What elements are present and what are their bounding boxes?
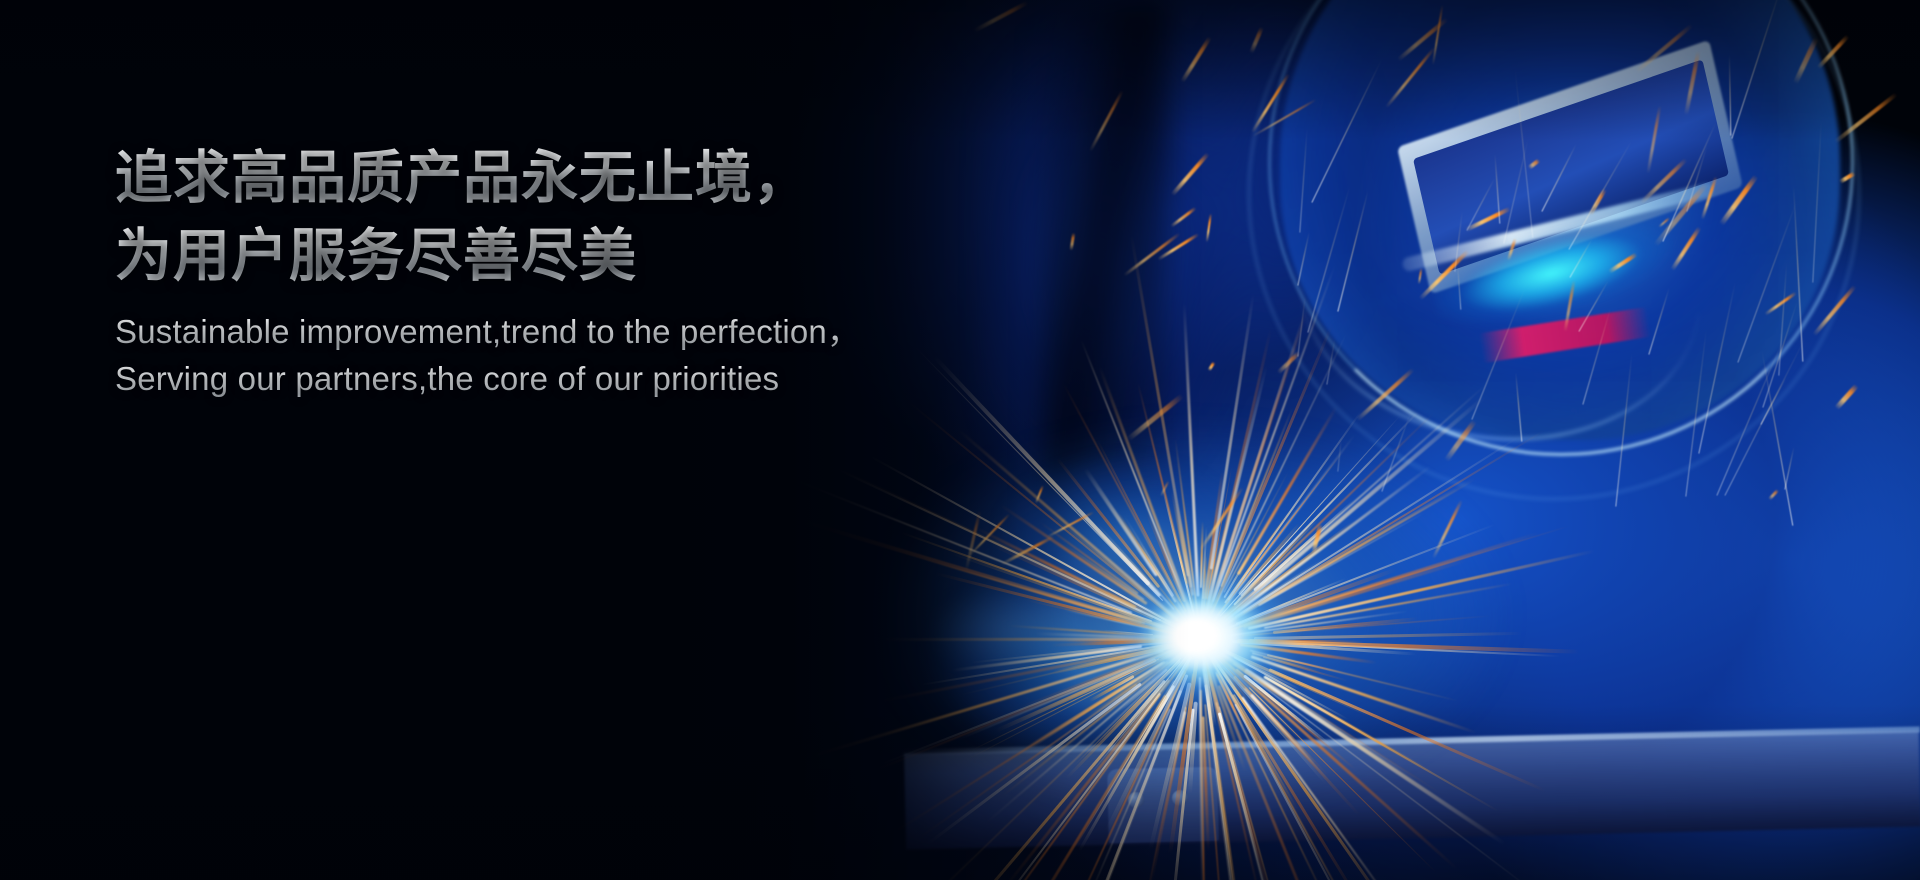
spark-needle <box>1326 339 1335 385</box>
ember <box>1180 36 1211 83</box>
spark <box>1169 708 1194 880</box>
spark-needle <box>1457 267 1461 310</box>
headline-line-2: 为用户服务尽善尽美 <box>115 218 860 296</box>
subheadline-line-1: Sustainable improvement,trend to the per… <box>115 309 860 356</box>
ember <box>1356 368 1415 422</box>
ember <box>1419 250 1470 301</box>
ember <box>1418 268 1423 284</box>
ember <box>1564 280 1576 332</box>
spark-needle <box>1297 232 1310 286</box>
spark-needle <box>1685 328 1707 497</box>
ember <box>1719 174 1758 225</box>
ember <box>973 1 1029 33</box>
ember <box>1839 172 1856 184</box>
spark-needle <box>1541 144 1577 212</box>
ember <box>1249 26 1263 53</box>
headline: 追求高品质产品永无止境， 为用户服务尽善尽美 <box>115 140 860 295</box>
ember <box>1089 90 1124 152</box>
welding-photo <box>0 0 1920 880</box>
ember <box>1608 252 1638 273</box>
spark-needle <box>1778 262 1787 376</box>
ember <box>1070 232 1076 250</box>
ember <box>1834 384 1858 410</box>
subheadline: Sustainable improvement,trend to the per… <box>115 309 860 403</box>
ember <box>1171 152 1210 196</box>
spark-needle <box>1307 185 1351 332</box>
spark-needle <box>1568 140 1632 250</box>
spark-needle <box>1729 55 1732 136</box>
ember <box>1653 183 1708 247</box>
ember <box>1528 158 1541 169</box>
ember <box>1432 5 1444 66</box>
spark-needle <box>1503 138 1529 244</box>
ember <box>1208 361 1216 371</box>
spark-needle <box>1569 239 1592 278</box>
spark <box>800 519 1142 624</box>
spark <box>796 479 1133 613</box>
spark-needle <box>1615 352 1633 506</box>
spark-needle <box>1582 307 1611 404</box>
ember <box>1432 499 1463 559</box>
spark-needle <box>1793 185 1804 362</box>
spark-needle <box>1648 288 1670 355</box>
spark-needle <box>1737 202 1797 363</box>
spark-needle <box>1514 68 1533 238</box>
spark-needle <box>1812 119 1822 283</box>
ember <box>1812 285 1856 337</box>
arc-core-hotspot <box>1148 600 1244 672</box>
spark-needle <box>1784 447 1795 490</box>
ember <box>1834 92 1898 143</box>
spark-needle <box>1762 300 1798 408</box>
ember <box>1684 51 1700 116</box>
ember <box>1768 489 1779 500</box>
ember <box>1635 23 1693 73</box>
subheadline-line-2: Serving our partners,the core of our pri… <box>115 356 860 403</box>
ember <box>1670 226 1701 271</box>
ember <box>1507 238 1517 261</box>
ember <box>1397 17 1449 61</box>
ember <box>1646 105 1661 173</box>
banner-copy: 追求高品质产品永无止境， 为用户服务尽善尽美 Sustainable impro… <box>115 140 860 403</box>
spark-needle <box>1662 122 1717 242</box>
spark-field <box>0 0 1920 880</box>
spark-needle <box>1311 59 1382 203</box>
ember <box>1385 47 1435 108</box>
ember <box>1817 34 1850 69</box>
ember <box>1170 207 1196 228</box>
ember <box>1126 394 1184 442</box>
spark-needle <box>1299 128 1308 233</box>
hero-banner: 追求高品质产品永无止境， 为用户服务尽善尽美 Sustainable impro… <box>0 0 1920 880</box>
spark-needle <box>1731 0 1785 139</box>
ember <box>1793 37 1818 84</box>
spark-needle <box>1698 281 1736 453</box>
spark-needle <box>1515 372 1522 442</box>
headline-line-1: 追求高品质产品永无止境， <box>115 140 860 218</box>
ember <box>1206 213 1212 242</box>
